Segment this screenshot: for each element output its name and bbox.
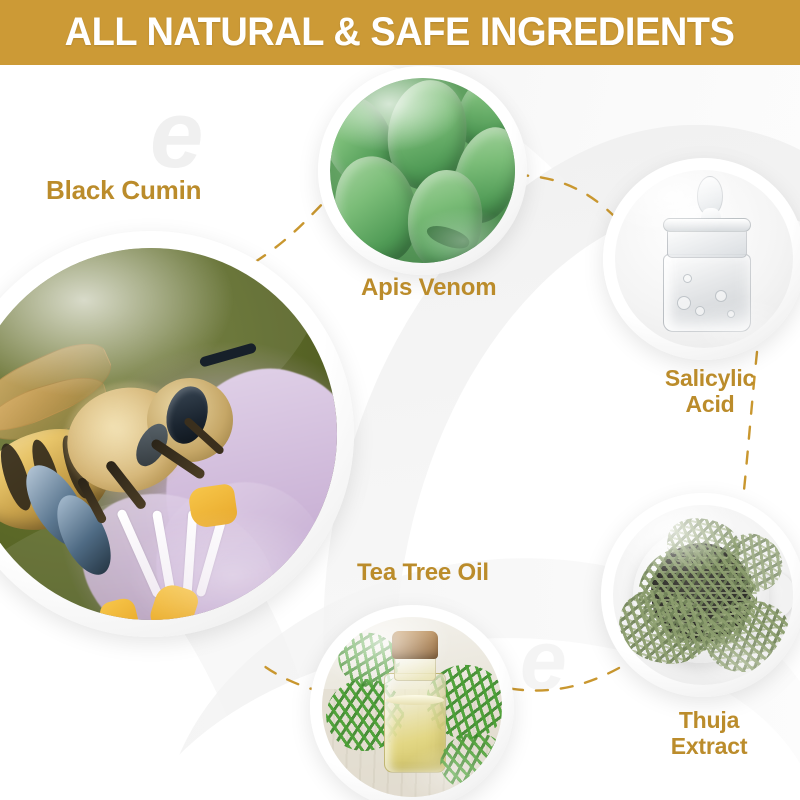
- photo-green-fruits: [330, 78, 515, 263]
- photo-bee-on-flower: [0, 248, 337, 620]
- photo-oil-bottle-with-sprigs: [322, 617, 502, 797]
- ingredient-image-salicylic-acid[interactable]: [615, 170, 793, 348]
- connector-apis-venom-to-salicylic: [516, 175, 616, 218]
- ingredient-image-tea-tree-oil[interactable]: [322, 617, 502, 797]
- ingredient-label-black-cumin: Black Cumin: [46, 176, 201, 205]
- ingredients-infographic: e e: [0, 0, 800, 800]
- photo-dried-thuja-in-cup: [613, 505, 793, 685]
- ingredient-image-black-cumin[interactable]: [0, 248, 337, 620]
- ingredient-label-thuja-extract: Thuja Extract: [663, 708, 755, 760]
- bee-illustration: [0, 334, 231, 564]
- ingredient-label-salicylic-acid: Salicylic Acid: [654, 366, 766, 418]
- ingredient-image-thuja-extract[interactable]: [613, 505, 793, 685]
- ingredient-label-apis-venom: Apis Venom: [361, 275, 496, 302]
- page-title: ALL NATURAL & SAFE INGREDIENTS: [65, 10, 735, 55]
- photo-glass-jar: [615, 170, 793, 348]
- ingredient-image-apis-venom[interactable]: [330, 78, 515, 263]
- connector-thuja-to-tea-tree: [506, 668, 619, 691]
- ingredient-label-tea-tree-oil: Tea Tree Oil: [357, 560, 489, 587]
- header-banner: ALL NATURAL & SAFE INGREDIENTS: [0, 0, 800, 65]
